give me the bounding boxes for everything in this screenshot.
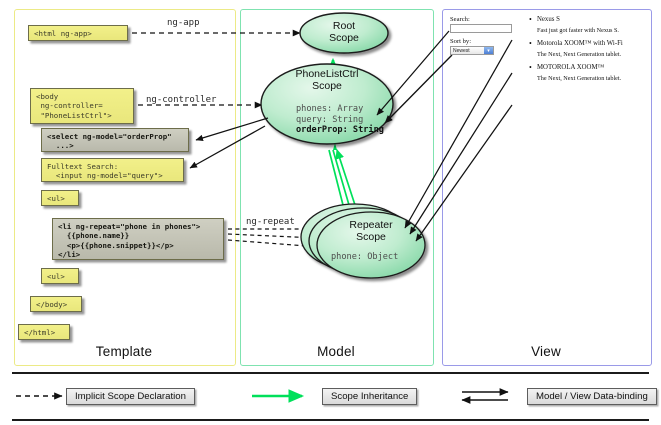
repeater-scope-title: Repeater Scope xyxy=(330,219,412,243)
list-item[interactable]: Motorola XOOM™ with Wi-Fi The Next, Next… xyxy=(528,38,648,60)
phone-name: Nexus S xyxy=(528,14,648,25)
panel-label-model: Model xyxy=(240,344,432,359)
legend-item-implicit-scope-declaration: Implicit Scope Declaration xyxy=(66,388,195,405)
code-box-html-open[interactable]: <html ng-app> xyxy=(28,25,128,41)
sort-by-selected-value: Newest xyxy=(451,48,470,54)
list-item[interactable]: Nexus S Fast just got faster with Nexus … xyxy=(528,14,648,36)
code-box-fulltext-search[interactable]: Fulltext Search: <input ng-model="query"… xyxy=(41,158,184,182)
root-scope-title: Root Scope xyxy=(308,20,380,44)
label-ng-app: ng-app xyxy=(167,18,200,28)
legend-bottom-divider xyxy=(12,419,649,421)
sort-by-label: Sort by: xyxy=(450,38,471,45)
repeater-scope-props: phone: Object xyxy=(331,252,398,263)
list-item[interactable]: MOTOROLA XOOM™ The Next, Next Generation… xyxy=(528,62,648,84)
phone-snippet: The Next, Next Generation tablet. xyxy=(528,49,648,60)
label-ng-repeat: ng-repeat xyxy=(246,217,295,227)
phonelistctrl-scope-props: phones: Array query: String orderProp: S… xyxy=(296,104,384,136)
legend-item-model-view-data-binding: Model / View Data-binding xyxy=(527,388,657,405)
phonelistctrl-props-plain: phones: Array query: String xyxy=(296,104,363,125)
legend-top-divider xyxy=(12,372,649,374)
phone-name: Motorola XOOM™ with Wi-Fi xyxy=(528,38,648,49)
phone-name: MOTOROLA XOOM™ xyxy=(528,62,648,73)
code-box-body-open[interactable]: <body ng-controller= "PhoneListCtrl"> xyxy=(30,88,134,124)
search-input[interactable] xyxy=(450,24,512,33)
phone-snippet: The Next, Next Generation tablet. xyxy=(528,73,648,84)
code-box-ul-close[interactable]: <ul> xyxy=(41,268,79,284)
code-box-select-orderprop[interactable]: <select ng-model="orderProp" ...> xyxy=(41,128,189,152)
view-rendered-app: Search: Sort by: Newest ▾ Nexus S Fast j… xyxy=(450,16,644,131)
phone-list: Nexus S Fast just got faster with Nexus … xyxy=(528,14,648,86)
chevron-down-icon: ▾ xyxy=(484,47,493,54)
code-box-ul-open[interactable]: <ul> xyxy=(41,190,79,206)
panel-label-view: View xyxy=(442,344,650,359)
phone-snippet: Fast just got faster with Nexus S. xyxy=(528,25,648,36)
panel-model xyxy=(240,9,434,366)
sort-by-select[interactable]: Newest ▾ xyxy=(450,46,494,55)
search-label: Search: xyxy=(450,16,470,23)
panel-label-template: Template xyxy=(14,344,234,359)
legend: Implicit Scope Declaration Scope Inherit… xyxy=(14,380,648,414)
legend-item-scope-inheritance: Scope Inheritance xyxy=(322,388,417,405)
phonelistctrl-scope-title: PhoneListCtrl Scope xyxy=(272,68,382,92)
code-box-body-close[interactable]: </body> xyxy=(30,296,82,312)
panel-template xyxy=(14,9,236,366)
diagram-canvas: Template Model View xyxy=(0,0,661,425)
code-box-li-ng-repeat[interactable]: <li ng-repeat="phone in phones"> {{phone… xyxy=(52,218,224,260)
label-ng-controller: ng-controller xyxy=(146,95,216,105)
code-box-html-close[interactable]: </html> xyxy=(18,324,70,340)
phonelistctrl-props-bold: orderProp: String xyxy=(296,125,384,135)
